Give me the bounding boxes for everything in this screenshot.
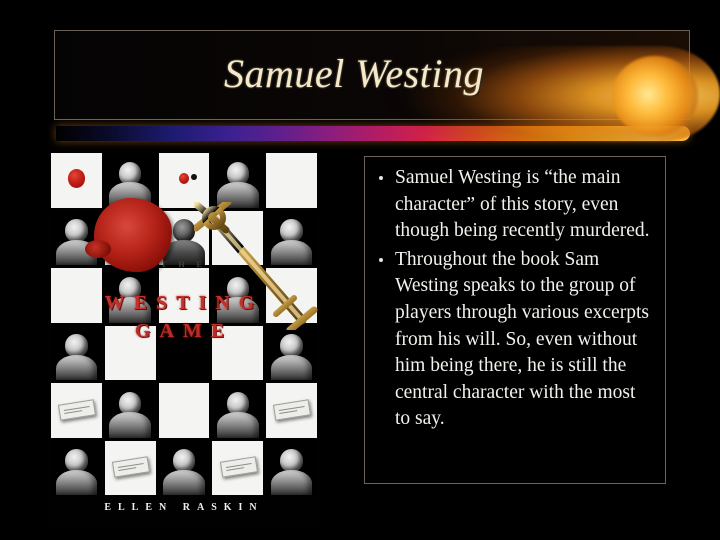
portrait-figure [212, 383, 263, 438]
paper-scrap-icon [58, 399, 96, 421]
cover-cell [105, 383, 156, 438]
cover-cell [51, 153, 102, 208]
cover-cell [266, 211, 317, 266]
cover-cell [212, 211, 263, 266]
red-dot-icon [68, 169, 85, 188]
red-dot-icon [179, 173, 189, 184]
cover-cell [51, 441, 102, 496]
portrait-figure [105, 383, 156, 438]
gradient-divider-bar [56, 126, 690, 141]
portrait-figure [266, 441, 317, 496]
body-content-box: Samuel Westing is “the main character” o… [364, 156, 666, 484]
portrait-figure [212, 153, 263, 208]
portrait-figure [159, 441, 210, 496]
presentation-slide: Samuel Westing [0, 0, 720, 540]
cover-cell [266, 383, 317, 438]
cover-cell [159, 441, 210, 496]
cover-cell [105, 441, 156, 496]
cover-cell [159, 383, 210, 438]
paper-scrap-icon [112, 456, 150, 478]
cover-title-line1: WESTING [48, 292, 320, 315]
cover-title-line2: GAME [48, 320, 320, 343]
portrait-figure [266, 211, 317, 266]
portrait-figure [51, 441, 102, 496]
paper-scrap-icon [219, 456, 257, 478]
title-box: Samuel Westing [54, 30, 690, 120]
book-cover-image: T H E WESTING GAME ELLEN RASKIN [48, 150, 320, 530]
cover-cell [212, 441, 263, 496]
paper-scrap-icon [273, 399, 311, 421]
cover-cell [51, 383, 102, 438]
list-item: Throughout the book Sam Westing speaks t… [373, 247, 655, 433]
cover-article-text: T H E [48, 260, 320, 269]
bullet-list: Samuel Westing is “the main character” o… [373, 165, 655, 433]
black-dot-icon [191, 174, 197, 181]
cover-cell [266, 441, 317, 496]
cover-cell [212, 383, 263, 438]
cover-cell [266, 153, 317, 208]
list-item: Samuel Westing is “the main character” o… [373, 165, 655, 245]
cover-cell [159, 153, 210, 208]
cover-author-name: ELLEN RASKIN [48, 502, 320, 513]
page-title: Samuel Westing [55, 51, 689, 97]
cover-cell [212, 153, 263, 208]
